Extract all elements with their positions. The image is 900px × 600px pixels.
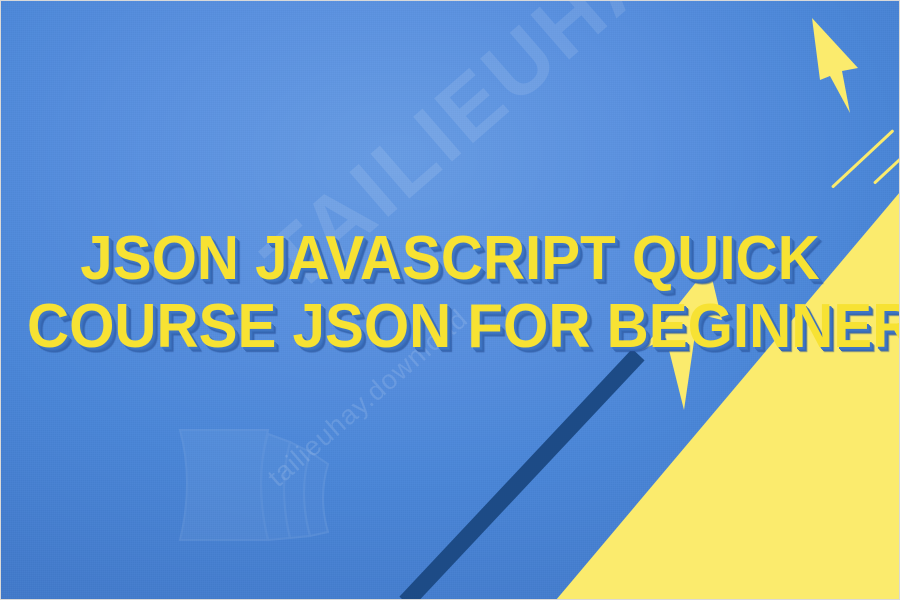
yellow-cursor-arrow-icon	[612, 258, 732, 418]
yellow-arrow-triangle-icon	[790, 16, 880, 116]
thumbnail-banner: TAILIEUHAY tailieuhay.download JSON JAVA…	[0, 0, 900, 600]
